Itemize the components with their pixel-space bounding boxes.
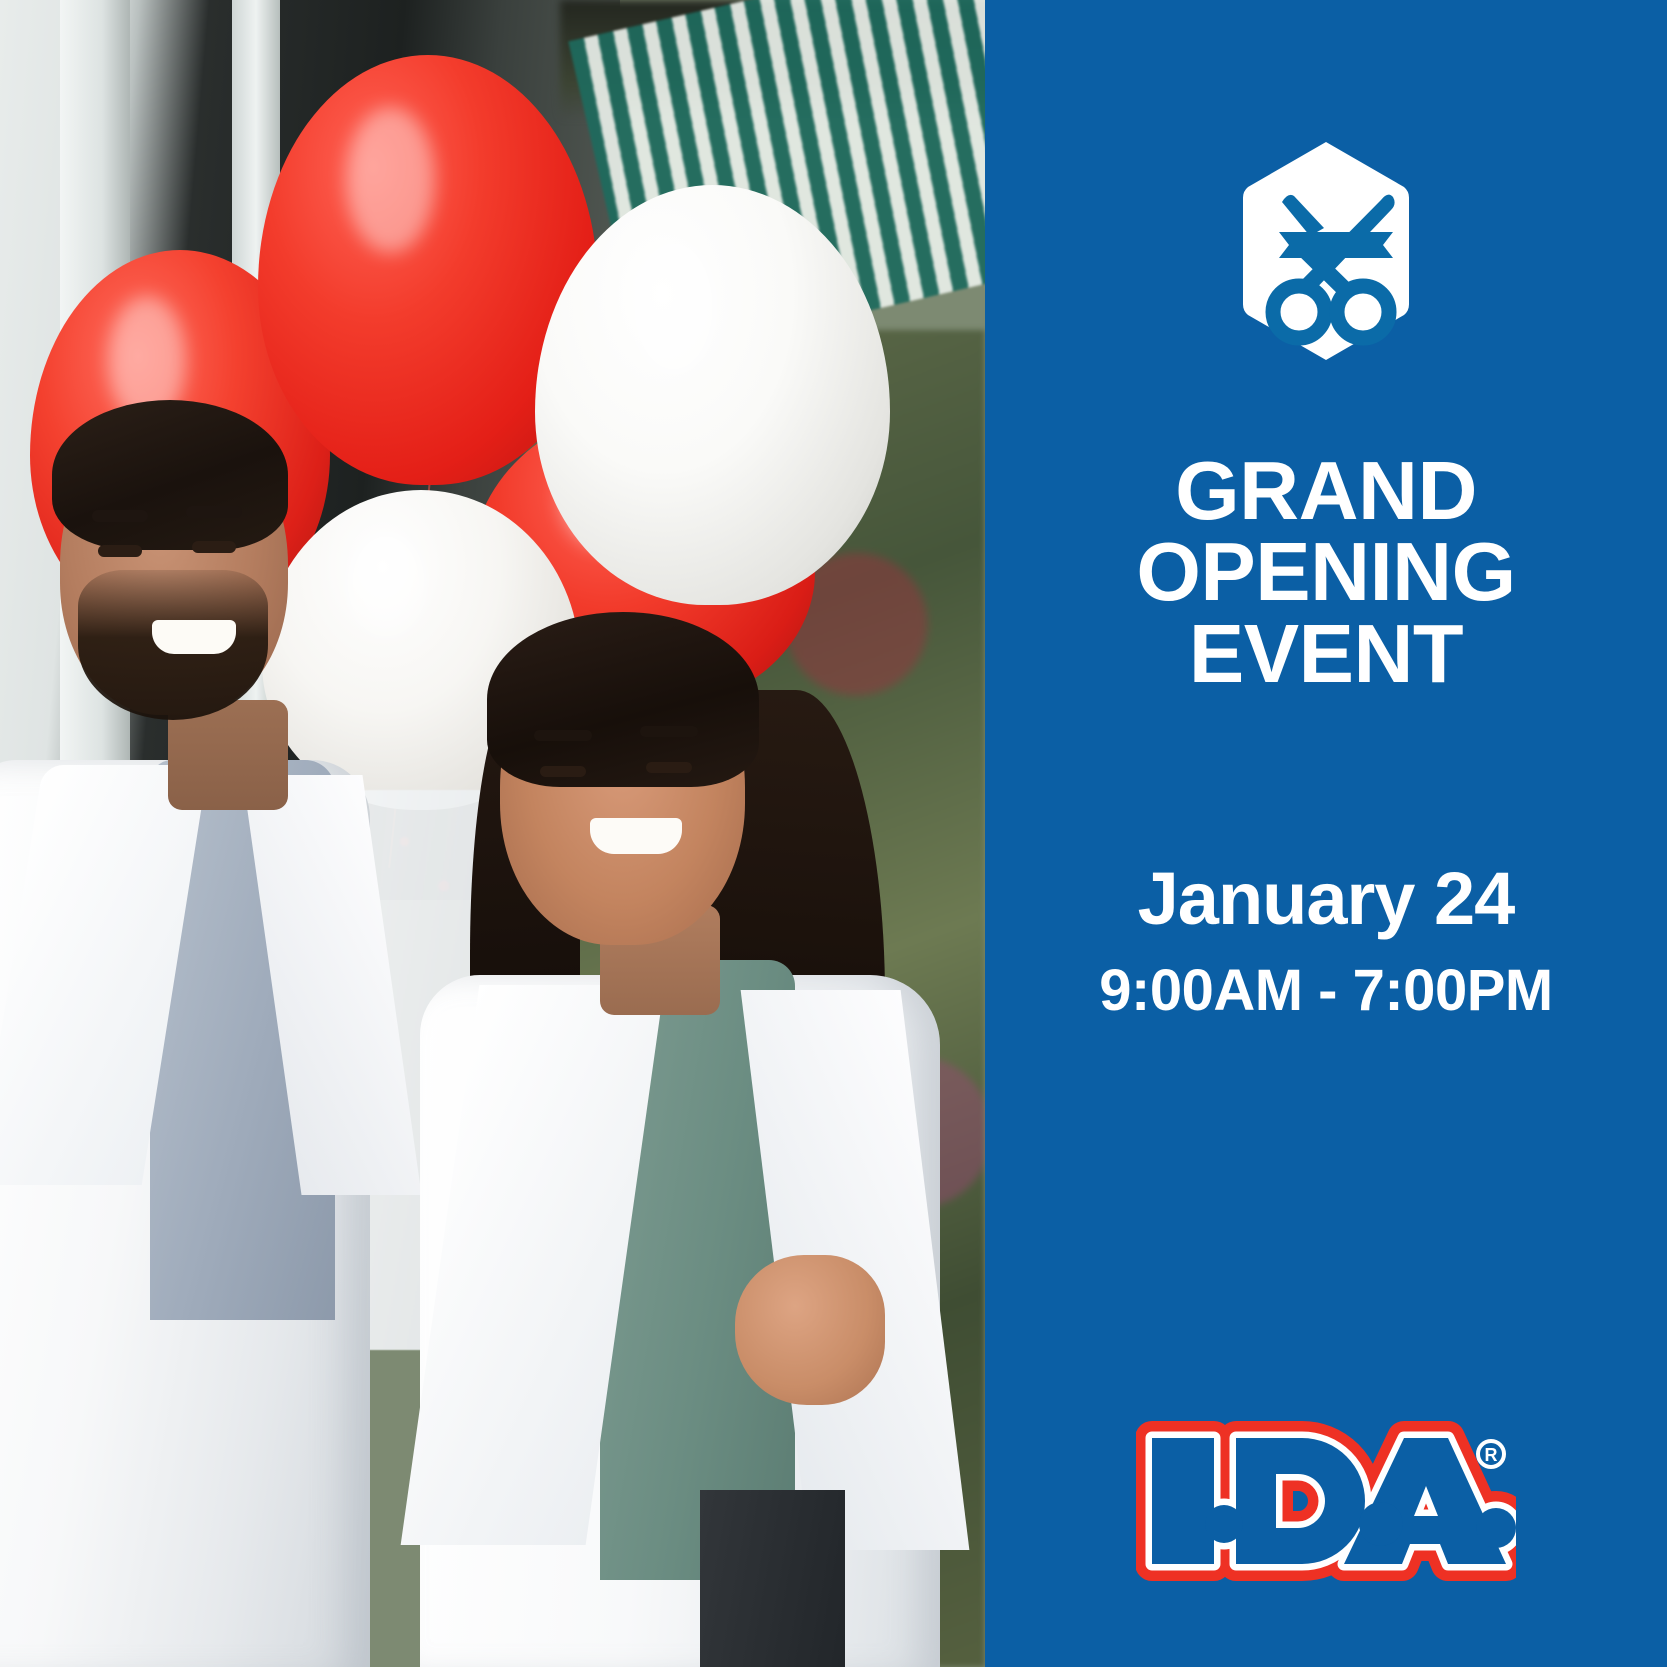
female-pharmacist-eye: [540, 766, 586, 777]
male-pharmacist-brow: [186, 506, 242, 518]
svg-text:R: R: [1485, 1445, 1498, 1465]
male-pharmacist-eye: [192, 541, 236, 553]
male-pharmacist-eye: [98, 545, 142, 557]
female-pharmacist-trousers: [700, 1490, 845, 1667]
male-pharmacist-brow: [92, 510, 148, 522]
female-pharmacist-brow: [640, 726, 698, 737]
event-time: 9:00AM - 7:00PM: [985, 962, 1667, 1020]
headline-line-2: OPENING: [985, 531, 1667, 612]
female-pharmacist-hair-top: [487, 612, 759, 787]
event-date: January 24: [985, 862, 1667, 936]
headline-line-1: GRAND: [985, 450, 1667, 531]
female-pharmacist-brow: [534, 730, 592, 741]
male-pharmacist-hair: [52, 400, 288, 550]
headline-line-3: EVENT: [985, 613, 1667, 694]
grand-opening-poster: GRAND OPENING EVENT January 24 9:00AM - …: [0, 0, 1667, 1667]
ida-logo: R: [1136, 1412, 1516, 1590]
female-pharmacist-eye: [646, 762, 692, 773]
event-details: January 24 9:00AM - 7:00PM: [985, 862, 1667, 1020]
female-pharmacist-hands: [735, 1255, 885, 1405]
page-title: GRAND OPENING EVENT: [985, 450, 1667, 694]
hero-photo: [0, 0, 985, 1667]
ribbon-cutting-scissors-icon: [1241, 140, 1411, 362]
male-pharmacist-smile: [152, 620, 236, 654]
female-pharmacist-smile: [590, 818, 682, 854]
registered-trademark-icon: R: [1478, 1441, 1504, 1467]
info-panel: GRAND OPENING EVENT January 24 9:00AM - …: [985, 0, 1667, 1667]
